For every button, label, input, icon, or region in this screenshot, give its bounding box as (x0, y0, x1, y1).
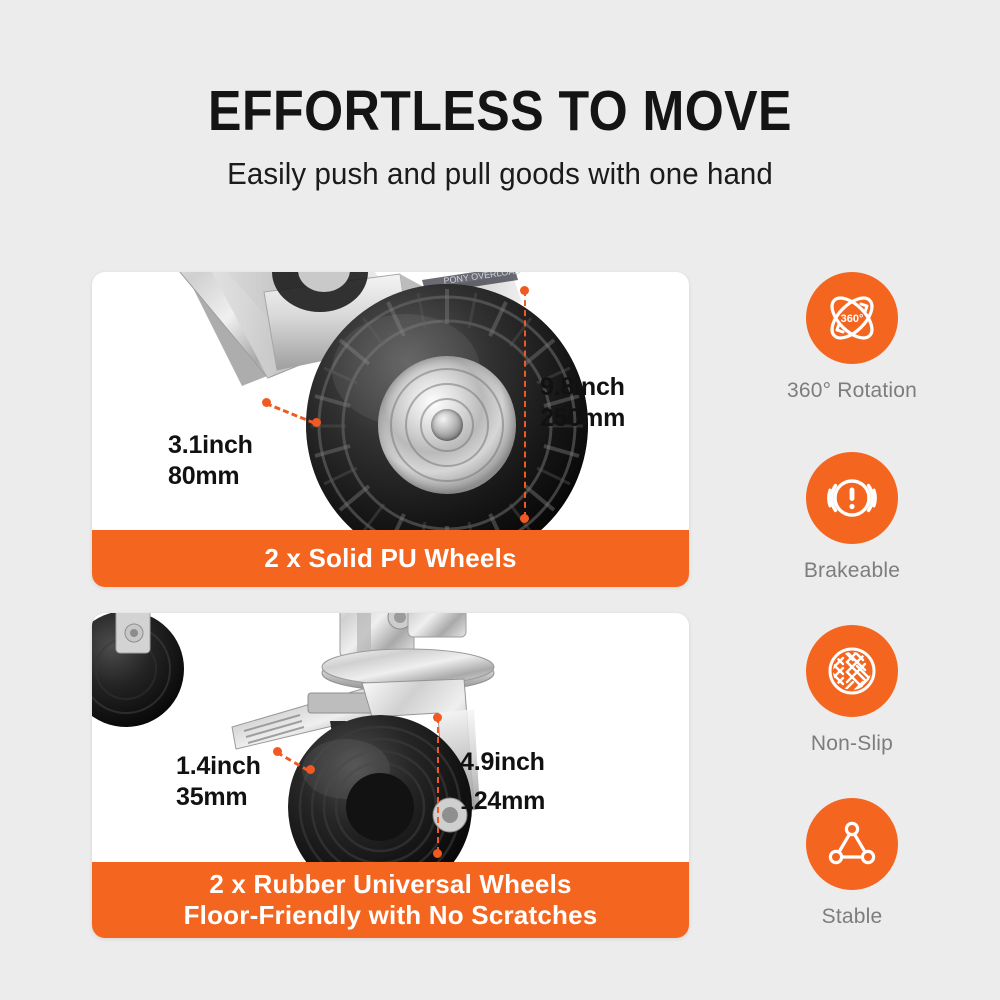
dim-value-inch: 9.8inch (540, 372, 625, 403)
dim-label-caster-diameter: 4.9inch 124mm (460, 743, 545, 821)
dim-value-mm: 35mm (176, 782, 261, 813)
page-headline: EFFORTLESS TO MOVE (60, 82, 940, 142)
dim-dot-tire-width-start (262, 398, 271, 407)
panel-2-caption-line-2: Floor-Friendly with No Scratches (184, 900, 598, 931)
dim-value-mm: 124mm (460, 782, 545, 821)
dim-dot-caster-diameter-top (433, 713, 442, 722)
dim-dot-caster-diameter-bottom (433, 849, 442, 858)
secondary-caster-wheel (92, 613, 194, 741)
feature-label-stable: Stable (716, 905, 988, 929)
feature-item-stable[interactable]: Stable (716, 798, 988, 929)
feature-item-brakeable[interactable]: Brakeable (716, 452, 988, 583)
product-panel-rubber-universal-wheels: 1.4inch 35mm 4.9inch 124mm 2 x Rubber Un… (92, 613, 689, 938)
dim-dot-wheel-diameter-bottom (520, 514, 529, 523)
feature-badge-brakeable (806, 452, 898, 544)
360-icon-text: 360° (841, 313, 864, 325)
tread-pattern-icon (823, 642, 881, 700)
feature-badge-stable (806, 798, 898, 890)
dim-dot-caster-tread-start (273, 747, 282, 756)
feature-label-non-slip: Non-Slip (716, 732, 988, 756)
dim-label-tire-width: 3.1inch 80mm (168, 430, 253, 491)
triangle-nodes-icon (823, 815, 881, 873)
panel-1-caption-bar: 2 x Solid PU Wheels (92, 530, 689, 587)
dim-line-caster-diameter (437, 717, 439, 853)
dim-value-mm: 80mm (168, 461, 253, 492)
panel-2-caption-line-1: 2 x Rubber Universal Wheels (209, 869, 571, 900)
dim-label-wheel-diameter: 9.8inch 250mm (540, 372, 625, 433)
page-subheadline: Easily push and pull goods with one hand (25, 156, 975, 192)
dim-value-inch: 4.9inch (460, 743, 545, 782)
dim-value-inch: 3.1inch (168, 430, 253, 461)
feature-label-rotation: 360° Rotation (716, 379, 988, 403)
dim-line-wheel-diameter (524, 290, 526, 518)
dim-dot-tire-width-end (312, 418, 321, 427)
dim-label-caster-tread-width: 1.4inch 35mm (176, 751, 261, 812)
dim-dot-caster-tread-end (306, 765, 315, 774)
panel-1-caption-line-1: 2 x Solid PU Wheels (264, 543, 516, 574)
brake-warning-icon (823, 469, 881, 527)
feature-badge-non-slip (806, 625, 898, 717)
dim-value-inch: 1.4inch (176, 751, 261, 782)
360-rotation-icon: 360° (823, 289, 881, 347)
dim-value-mm: 250mm (540, 403, 625, 434)
panel-2-caption-bar: 2 x Rubber Universal Wheels Floor-Friend… (92, 862, 689, 938)
feature-item-non-slip[interactable]: Non-Slip (716, 625, 988, 756)
feature-item-rotation[interactable]: 360° 360° Rotation (716, 272, 988, 403)
feature-label-brakeable: Brakeable (716, 559, 988, 583)
header-block: EFFORTLESS TO MOVE Easily push and pull … (0, 82, 1000, 192)
product-panel-solid-pu-wheels: PONY OVERLOAD (92, 272, 689, 587)
wheel-axle-cap (431, 409, 463, 441)
feature-badge-rotation: 360° (806, 272, 898, 364)
dim-dot-wheel-diameter-top (520, 286, 529, 295)
feature-list: 360° 360° Rotation Brakeable (716, 272, 988, 938)
